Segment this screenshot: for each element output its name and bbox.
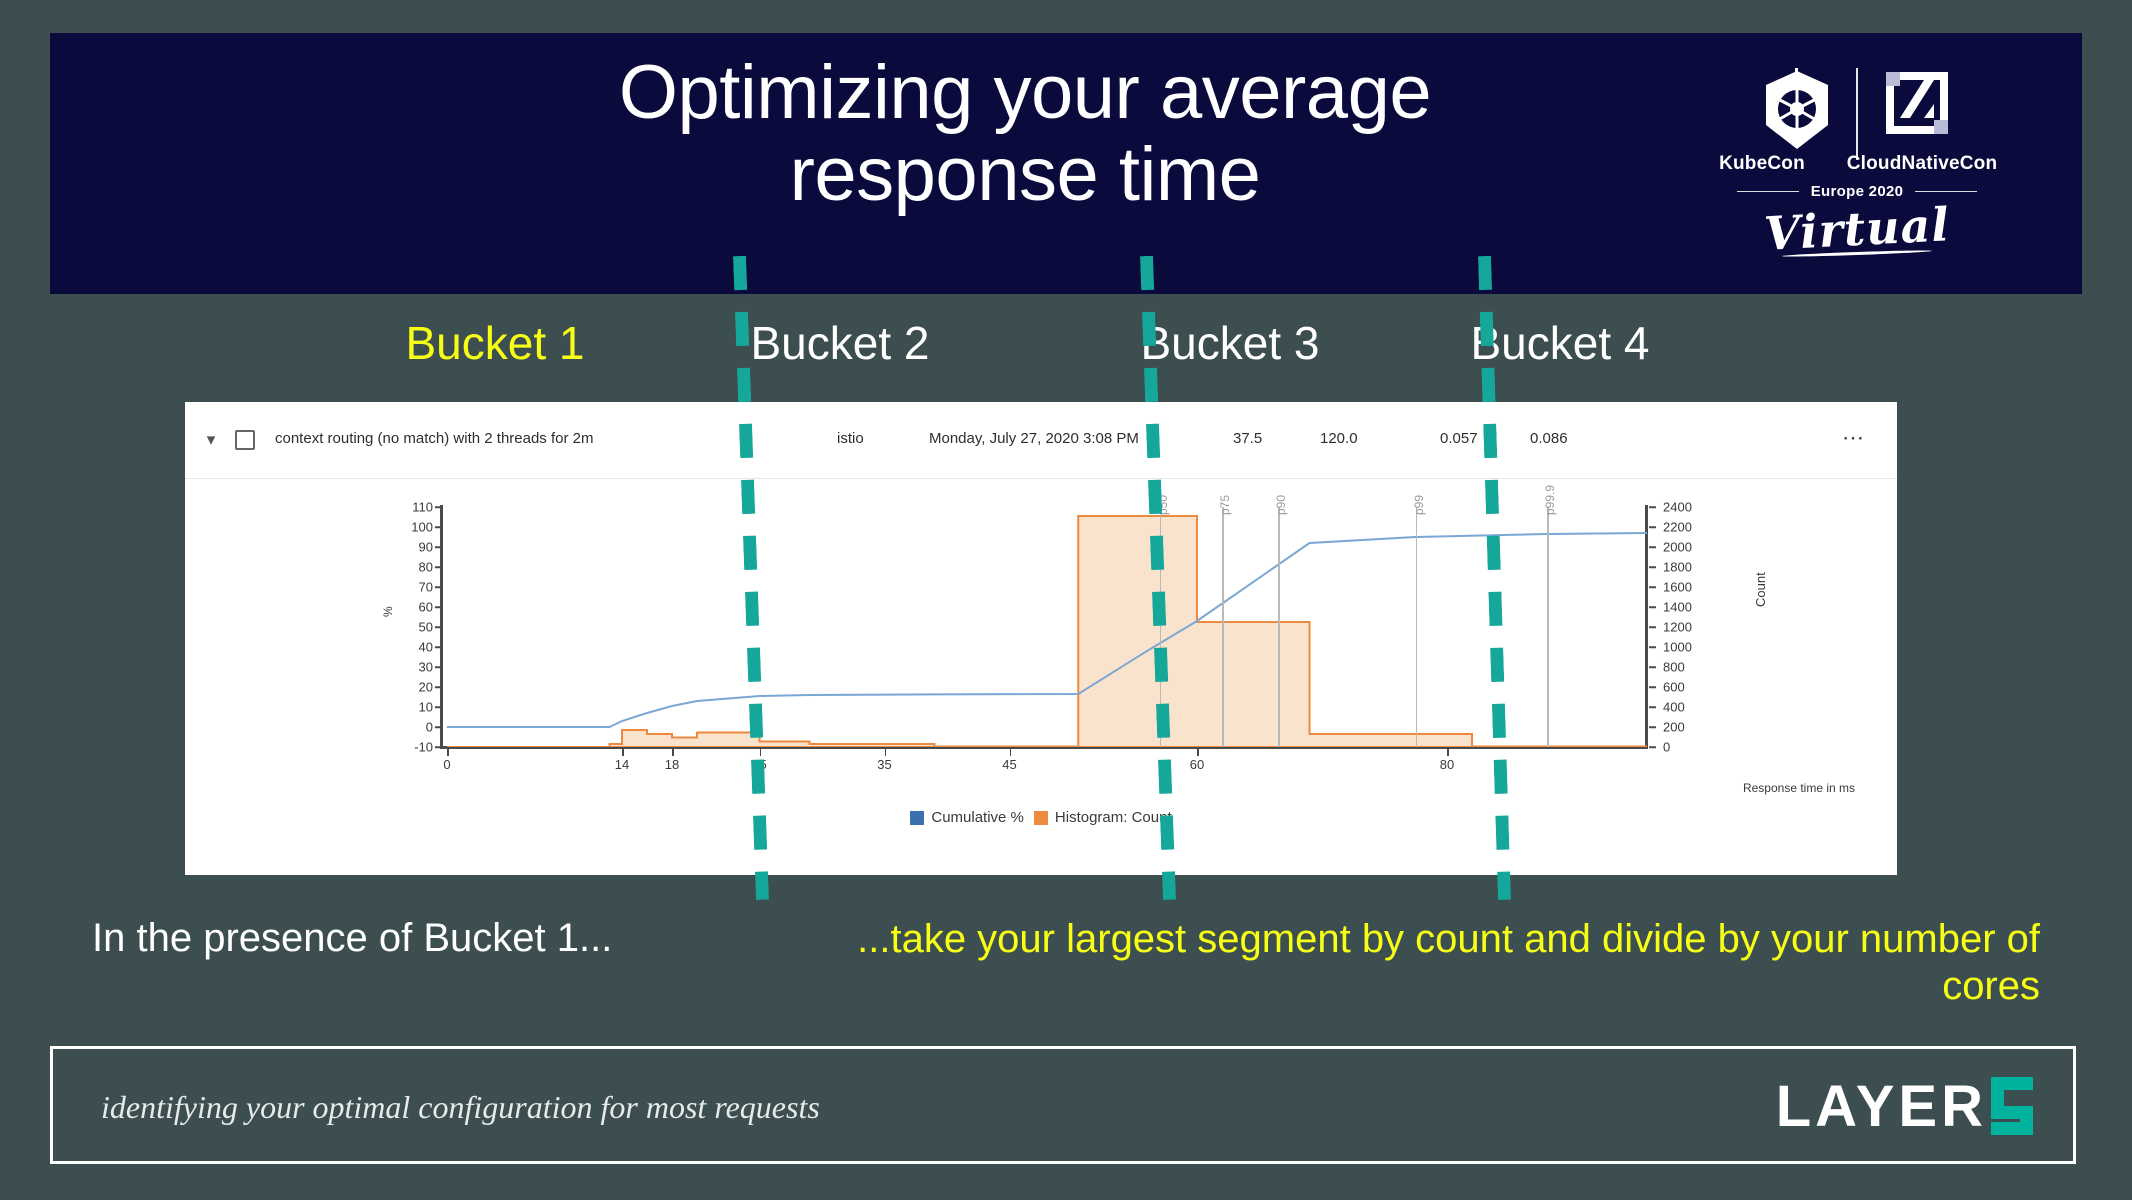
x-tick-label: 80 <box>1440 757 1454 772</box>
x-tick-label: 0 <box>443 757 450 772</box>
percentile-label-p99.9: p99.9 <box>1543 485 1557 515</box>
dash-segment <box>1154 648 1168 682</box>
dash-segment <box>1490 648 1504 682</box>
y-tick-mark-right <box>1649 546 1656 548</box>
y-tick-mark-right <box>1649 666 1656 668</box>
percentile-label-p75: p75 <box>1218 495 1232 515</box>
result-name: context routing (no match) with 2 thread… <box>275 430 593 447</box>
y-tick-left: -10 <box>381 740 433 755</box>
y-tick-right: 2400 <box>1663 500 1692 515</box>
dash-segment <box>1480 312 1494 346</box>
dash-segment <box>735 312 749 346</box>
y-tick-left: 60 <box>381 600 433 615</box>
dash-segment <box>1142 312 1156 346</box>
result-metric-4: 0.086 <box>1530 430 1568 447</box>
x-tick-mark <box>672 749 674 756</box>
x-tick-mark <box>447 749 449 756</box>
y-tick-right: 0 <box>1663 740 1670 755</box>
result-metric-3: 0.057 <box>1440 430 1478 447</box>
y-tick-left: 0 <box>381 720 433 735</box>
y-tick-mark-left <box>435 526 442 528</box>
y-tick-mark-left <box>435 746 442 748</box>
dash-segment <box>1156 703 1170 737</box>
result-metric-1: 37.5 <box>1233 430 1262 447</box>
histogram-area <box>447 516 1647 747</box>
y-tick-left: 100 <box>381 520 433 535</box>
y-tick-right: 1000 <box>1663 640 1692 655</box>
y-tick-mark-left <box>435 726 442 728</box>
x-tick-label: 35 <box>877 757 891 772</box>
dash-segment <box>1483 424 1497 458</box>
y-tick-right: 1400 <box>1663 600 1692 615</box>
dash-segment <box>1495 816 1509 850</box>
y-tick-mark-left <box>435 686 442 688</box>
y-tick-mark-left <box>435 506 442 508</box>
y-tick-left: 80 <box>381 560 433 575</box>
dash-segment <box>745 592 759 626</box>
y-tick-mark-right <box>1649 526 1656 528</box>
y-tick-mark-left <box>435 706 442 708</box>
bucket-label-3: Bucket 3 <box>1080 300 1380 386</box>
x-tick-mark <box>622 749 624 756</box>
benchmark-result-panel: ▾ context routing (no match) with 2 thre… <box>185 402 1897 874</box>
y-tick-mark-right <box>1649 686 1656 688</box>
x-tick-label: 18 <box>665 757 679 772</box>
footer-caption: identifying your optimal configuration f… <box>101 1089 820 1126</box>
chart-legend: Cumulative %Histogram: Count <box>185 809 1897 826</box>
y-tick-mark-right <box>1649 586 1656 588</box>
bucket-label-1: Bucket 1 <box>370 300 620 386</box>
y-tick-left: 50 <box>381 620 433 635</box>
kubecon-logo: KubeCon CloudNativeCon Europe 2020 Virtu… <box>1692 59 2022 274</box>
dash-segment <box>1152 592 1166 626</box>
y-tick-mark-right <box>1649 746 1656 748</box>
y-tick-right: 400 <box>1663 700 1685 715</box>
y-tick-mark-left <box>435 586 442 588</box>
result-mesh: istio <box>837 430 864 447</box>
y-tick-right: 2200 <box>1663 520 1692 535</box>
logo-divider <box>1856 68 1858 160</box>
legend-item[interactable]: Histogram: Count <box>1034 809 1172 826</box>
y-tick-right: 1200 <box>1663 620 1692 635</box>
cncf-icon <box>1878 68 1956 160</box>
ellipsis-icon[interactable]: ⋯ <box>1842 428 1865 448</box>
dash-segment <box>1492 704 1506 738</box>
plot-area <box>447 507 1647 747</box>
dash-segment <box>743 536 757 570</box>
dash-segment <box>739 424 753 458</box>
y-tick-mark-right <box>1649 646 1656 648</box>
result-row-header: ▾ context routing (no match) with 2 thre… <box>185 402 1897 479</box>
caption-right: ...take your largest segment by count an… <box>790 916 2040 1010</box>
dash-segment <box>1497 872 1511 900</box>
dash-segment <box>751 759 765 793</box>
chevron-down-icon[interactable]: ▾ <box>201 430 221 450</box>
dash-segment <box>1478 256 1492 290</box>
event-label: Europe 2020 <box>1811 183 1904 200</box>
y-tick-right: 2000 <box>1663 540 1692 555</box>
layer5-logo: LAYER <box>1776 1073 2033 1139</box>
y-tick-right: 1800 <box>1663 560 1692 575</box>
dash-segment <box>1494 760 1508 794</box>
dash-segment <box>749 703 763 737</box>
dash-segment <box>755 871 769 899</box>
legend-swatch-icon <box>910 811 924 825</box>
dash-segment <box>1162 871 1176 899</box>
dash-segment <box>737 368 751 402</box>
title-line-1: Optimizing your average <box>619 50 1431 135</box>
percentile-line-p75 <box>1222 507 1224 747</box>
y-tick-mark-left <box>435 566 442 568</box>
y-tick-mark-left <box>435 606 442 608</box>
percentile-line-p99 <box>1416 507 1418 747</box>
dash-segment <box>733 256 747 290</box>
x-tick-mark <box>1447 749 1449 756</box>
x-tick-mark <box>1197 749 1199 756</box>
x-axis-label: Response time in ms <box>1743 781 1855 795</box>
x-tick-label: 14 <box>615 757 629 772</box>
legend-label: Cumulative % <box>931 809 1024 826</box>
kubernetes-helm-icon <box>1758 68 1836 160</box>
dash-segment <box>741 480 755 514</box>
y-tick-left: 90 <box>381 540 433 555</box>
footer-bar: identifying your optimal configuration f… <box>50 1046 2076 1164</box>
y-tick-mark-right <box>1649 726 1656 728</box>
title-band: Optimizing your average response time <box>50 33 2082 294</box>
y-tick-mark-left <box>435 626 442 628</box>
y-tick-mark-left <box>435 546 442 548</box>
euro-rule-right <box>1915 191 1977 192</box>
response-time-histogram-chart: % Count Response time in ms Cumulative %… <box>185 479 1897 875</box>
y-tick-mark-right <box>1649 606 1656 608</box>
layer5-wordmark: LAYER <box>1776 1073 1987 1140</box>
dash-segment <box>1148 480 1162 514</box>
y-tick-mark-right <box>1649 706 1656 708</box>
title-line-2: response time <box>350 137 1700 213</box>
result-metric-2: 120.0 <box>1320 430 1358 447</box>
y-tick-left: 30 <box>381 660 433 675</box>
y-axis-right-label: Count <box>1753 572 1768 607</box>
row-checkbox[interactable] <box>235 430 255 450</box>
y-tick-mark-left <box>435 646 442 648</box>
y-tick-right: 600 <box>1663 680 1685 695</box>
y-tick-mark-right <box>1649 626 1656 628</box>
y-tick-right: 1600 <box>1663 580 1692 595</box>
x-tick-mark <box>885 749 887 756</box>
result-timestamp: Monday, July 27, 2020 3:08 PM <box>929 430 1139 447</box>
x-tick-mark <box>1010 749 1012 756</box>
dash-segment <box>1150 536 1164 570</box>
percentile-line-p90 <box>1278 507 1280 747</box>
dash-segment <box>1158 759 1172 793</box>
caption-left: In the presence of Bucket 1... <box>92 916 752 961</box>
kubecon-wordmark: KubeCon <box>1697 153 1827 175</box>
cumulative-line <box>447 533 1647 727</box>
y-tick-mark-right <box>1649 566 1656 568</box>
y-tick-left: 40 <box>381 640 433 655</box>
page-title: Optimizing your average response time <box>350 55 1700 213</box>
legend-swatch-icon <box>1034 811 1048 825</box>
legend-item[interactable]: Cumulative % <box>910 809 1024 826</box>
bucket-label-4: Bucket 4 <box>1410 300 1710 386</box>
bucket-label-row: Bucket 1Bucket 2Bucket 3Bucket 4 <box>0 300 2132 386</box>
dash-segment <box>1144 368 1158 402</box>
dash-segment <box>1481 368 1495 402</box>
slide-root: Optimizing your average response time <box>0 0 2132 1200</box>
percentile-line-p99.9 <box>1547 507 1549 747</box>
dash-segment <box>1487 536 1501 570</box>
dash-segment <box>1485 480 1499 514</box>
y-tick-left: 20 <box>381 680 433 695</box>
percentile-label-p99: p99 <box>1412 495 1426 515</box>
x-tick-label: 45 <box>1002 757 1016 772</box>
percentile-label-p90: p90 <box>1274 495 1288 515</box>
y-tick-right: 800 <box>1663 660 1685 675</box>
x-tick-label: 60 <box>1190 757 1204 772</box>
y-tick-left: 110 <box>381 500 433 515</box>
y-tick-mark-left <box>435 666 442 668</box>
euro-rule-left <box>1737 191 1799 192</box>
legend-label: Histogram: Count <box>1055 809 1172 826</box>
y-tick-left: 10 <box>381 700 433 715</box>
y-tick-right: 200 <box>1663 720 1685 735</box>
dash-segment <box>1488 592 1502 626</box>
dash-segment <box>747 648 761 682</box>
dash-segment <box>1140 256 1154 290</box>
dash-segment <box>1160 815 1174 849</box>
y-tick-mark-right <box>1649 506 1656 508</box>
dash-segment <box>1146 424 1160 458</box>
y-tick-left: 70 <box>381 580 433 595</box>
dash-segment <box>753 815 767 849</box>
layer5-digit-icon <box>1991 1077 2033 1135</box>
